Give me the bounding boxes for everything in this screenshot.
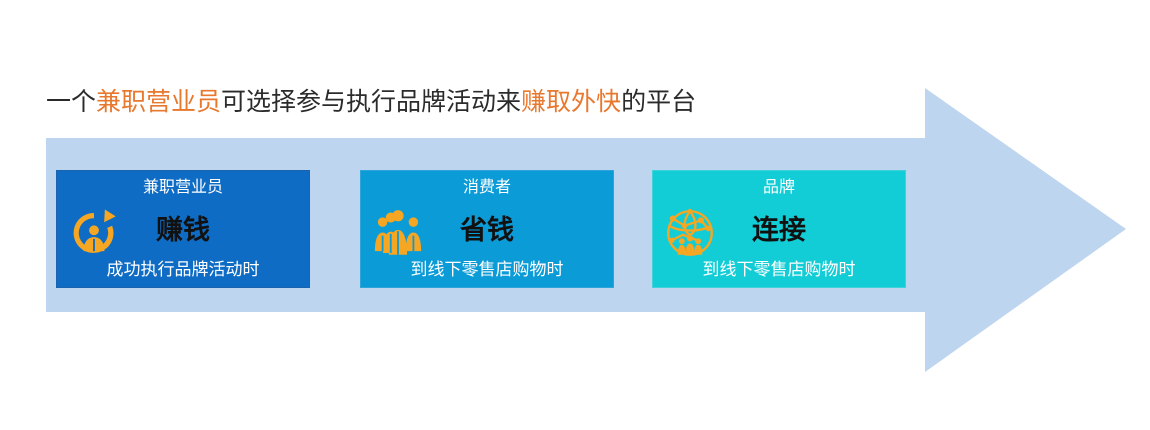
card-consumer[interactable]: 消费者 省钱 到线下零售店购物时	[360, 170, 614, 288]
card-footer-label: 到线下零售店购物时	[361, 258, 613, 282]
headline-segment-4-highlight: 赚取外快	[521, 89, 621, 116]
card-footer-label: 到线下零售店购物时	[653, 258, 905, 282]
card-main-label: 省钱	[361, 213, 613, 247]
card-footer-label: 成功执行品牌活动时	[57, 258, 309, 282]
card-brand[interactable]: 品牌 连接 到线下零售店购物时	[652, 170, 906, 288]
card-title: 品牌	[653, 177, 905, 199]
headline-segment-5: 的平台	[621, 89, 696, 116]
headline-segment-1: 一个	[46, 89, 96, 116]
card-main-label: 赚钱	[57, 213, 309, 247]
card-main-label: 连接	[653, 213, 905, 247]
page-title: 一个兼职营业员可选择参与执行品牌活动来赚取外快的平台	[46, 86, 986, 120]
card-title: 消费者	[361, 177, 613, 199]
headline-segment-2-highlight: 兼职营业员	[96, 89, 221, 116]
card-part-time-clerk[interactable]: 兼职营业员 赚钱 成功执行品牌活动时	[56, 170, 310, 288]
card-title: 兼职营业员	[57, 177, 309, 199]
slide-canvas: 一个兼职营业员可选择参与执行品牌活动来赚取外快的平台 兼职营业员 赚钱 成功执行…	[0, 0, 1150, 430]
headline-segment-3: 可选择参与执行品牌活动来	[221, 89, 521, 116]
